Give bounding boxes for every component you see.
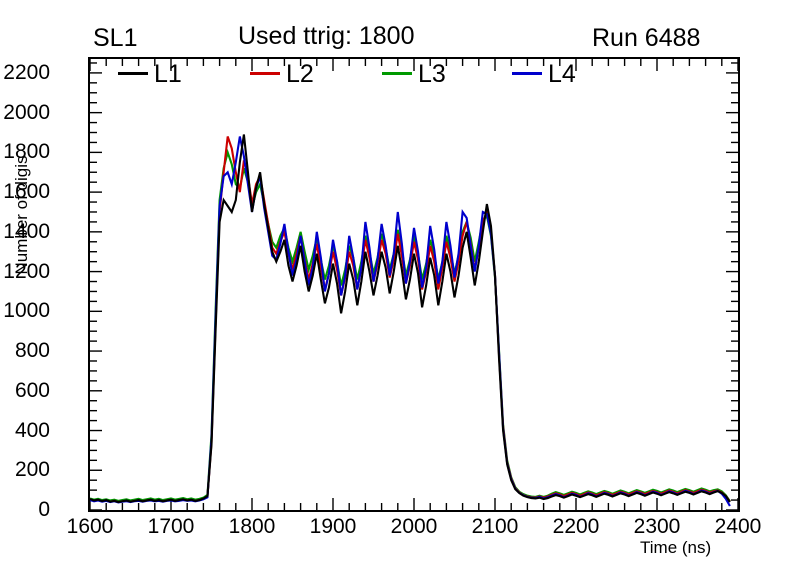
data-plot-area	[90, 59, 738, 510]
series-line-l1	[90, 135, 730, 503]
y-tick-label: 2000	[3, 102, 50, 123]
x-tick-label: 1800	[229, 516, 276, 537]
y-tick-label: 1200	[3, 261, 50, 282]
legend-label-l4: L4	[548, 62, 576, 87]
x-axis-title: Time (ns)	[640, 538, 711, 558]
plot-canvas: SL1 Used ttrig: 1800 Run 6488 Number of …	[0, 0, 796, 572]
plot-frame	[88, 57, 740, 512]
legend-item-l4[interactable]: L4	[512, 62, 576, 88]
legend-label-l3: L3	[418, 62, 446, 87]
y-tick-label: 600	[15, 380, 50, 401]
legend-item-l3[interactable]: L3	[382, 62, 446, 88]
y-tick-label: 1800	[3, 141, 50, 162]
x-tick-label: 2100	[472, 516, 519, 537]
plot-title: Used ttrig: 1800	[238, 24, 415, 49]
y-tick-label: 0	[38, 499, 50, 520]
legend-item-l2[interactable]: L2	[250, 62, 314, 88]
x-tick-label: 2400	[715, 516, 762, 537]
x-tick-label: 2300	[634, 516, 681, 537]
legend-swatch-l2	[250, 72, 280, 75]
series-line-l3	[90, 152, 730, 501]
x-tick-label: 2200	[553, 516, 600, 537]
x-tick-label: 1900	[310, 516, 357, 537]
run-number-label: Run 6488	[592, 26, 700, 51]
x-tick-label: 2000	[391, 516, 438, 537]
y-tick-label: 200	[15, 459, 50, 480]
y-tick-label: 2200	[3, 62, 50, 83]
y-tick-label: 1600	[3, 181, 50, 202]
x-tick-label: 1700	[148, 516, 195, 537]
y-tick-label: 800	[15, 340, 50, 361]
legend-label-l1: L1	[154, 62, 182, 87]
series-line-l2	[90, 136, 730, 502]
x-tick-label: 1600	[67, 516, 114, 537]
legend-swatch-l1	[118, 72, 148, 75]
y-tick-label: 1400	[3, 221, 50, 242]
superlayer-label: SL1	[93, 26, 137, 51]
y-tick-label: 400	[15, 420, 50, 441]
legend-swatch-l3	[382, 72, 412, 75]
series-line-l4	[90, 136, 730, 506]
legend-swatch-l4	[512, 72, 542, 75]
legend-label-l2: L2	[286, 62, 314, 87]
y-tick-label: 1000	[3, 300, 50, 321]
legend-item-l1[interactable]: L1	[118, 62, 182, 88]
